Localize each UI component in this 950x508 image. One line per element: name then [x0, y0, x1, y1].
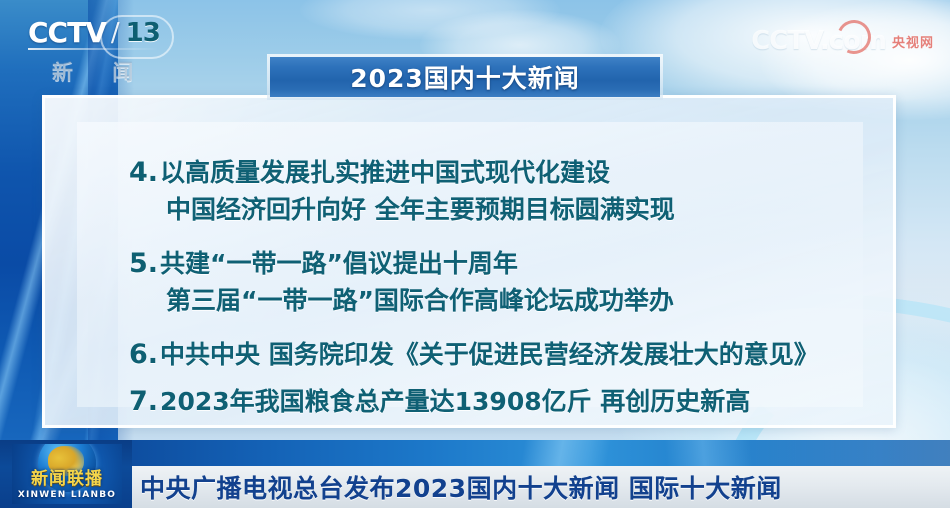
program-name-en: XINWEN LIANBO	[18, 490, 116, 500]
watermark-site-cn: 央视网	[892, 32, 934, 51]
cloud-decoration	[300, 0, 560, 40]
lower-third-top-strip	[0, 440, 950, 466]
list-item: 5. 共建“一带一路”倡议提出十周年 第三届“一带一路”国际合作高峰论坛成功举办	[129, 245, 839, 319]
list-item: 4. 以高质量发展扎实推进中国式现代化建设 中国经济回升向好 全年主要预期目标圆…	[129, 154, 839, 228]
list-item-line: 2023年我国粮食总产量达13908亿斤 再创历史新高	[160, 383, 750, 420]
xinwen-watermark: 新 闻	[52, 56, 149, 86]
news-panel: 4. 以高质量发展扎实推进中国式现代化建设 中国经济回升向好 全年主要预期目标圆…	[42, 95, 896, 428]
strip-glow-decoration	[690, 440, 950, 466]
logo-slash: /	[111, 18, 119, 48]
list-item-line: 中共中央 国务院印发《关于促进民营经济发展壮大的意见》	[160, 336, 819, 373]
title-bar: 2023国内十大新闻	[270, 57, 660, 97]
news-list: 4. 以高质量发展扎实推进中国式现代化建设 中国经济回升向好 全年主要预期目标圆…	[129, 154, 839, 430]
list-item-number: 7.	[129, 383, 160, 420]
cctv-com-watermark: CCTV.com 央视网	[751, 26, 934, 56]
program-logo: 新闻联播 XINWEN LIANBO	[12, 444, 122, 504]
list-item-lines: 2023年我国粮食总产量达13908亿斤 再创历史新高	[160, 383, 750, 420]
page-title: 2023国内十大新闻	[350, 59, 580, 95]
program-name-cn: 新闻联播	[31, 464, 103, 489]
list-item-lines: 共建“一带一路”倡议提出十周年 第三届“一带一路”国际合作高峰论坛成功举办	[160, 245, 674, 319]
title-bar-wrapper: 2023国内十大新闻	[270, 57, 660, 97]
list-item-lines: 以高质量发展扎实推进中国式现代化建设 中国经济回升向好 全年主要预期目标圆满实现	[160, 154, 675, 228]
list-item: 7. 2023年我国粮食总产量达13908亿斤 再创历史新高	[129, 383, 839, 420]
cctv-wordmark: CCTV	[28, 19, 106, 47]
lower-third-bar: 新闻联播 XINWEN LIANBO 中央广播电视总台发布2023国内十大新闻 …	[0, 440, 950, 508]
broadcast-screen: CCTV / 13 新 闻 CCTV.com 央视网 4. 以高质量发展扎实推进…	[0, 0, 950, 508]
list-item-line: 共建“一带一路”倡议提出十周年	[160, 245, 674, 282]
list-item-line: 以高质量发展扎实推进中国式现代化建设	[160, 154, 675, 191]
ticker-text: 中央广播电视总台发布2023国内十大新闻 国际十大新闻	[140, 469, 782, 505]
list-item-number: 6.	[129, 336, 160, 373]
ticker: 中央广播电视总台发布2023国内十大新闻 国际十大新闻	[140, 468, 942, 506]
list-item-lines: 中共中央 国务院印发《关于促进民营经济发展壮大的意见》	[160, 336, 819, 373]
list-item-line: 第三届“一带一路”国际合作高峰论坛成功举办	[160, 282, 674, 319]
list-item-line: 中国经济回升向好 全年主要预期目标圆满实现	[160, 191, 675, 228]
cctv13-logo: CCTV / 13	[28, 18, 167, 48]
channel-number: 13	[123, 19, 167, 48]
list-item-number: 4.	[129, 154, 160, 191]
list-item: 6. 中共中央 国务院印发《关于促进民营经济发展壮大的意见》	[129, 336, 839, 373]
list-item-number: 5.	[129, 245, 160, 282]
news-panel-inner: 4. 以高质量发展扎实推进中国式现代化建设 中国经济回升向好 全年主要预期目标圆…	[77, 122, 863, 407]
logo-underline	[28, 48, 158, 50]
